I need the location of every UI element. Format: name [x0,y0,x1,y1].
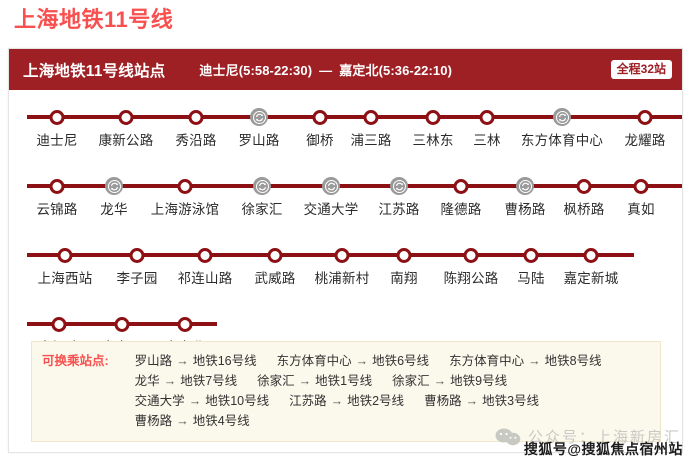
station-labels: 迪士尼康新公路秀沿路罗山路御桥浦三路三林东三林东方体育中心龙耀路 [9,130,682,154]
station-labels: 云锦路龙华上海游泳馆徐家汇交通大学江苏路隆德路曹杨路枫桥路真如 [9,199,682,223]
station-icon[interactable] [584,248,599,263]
arrow-icon: → [299,374,312,388]
station-icon[interactable] [58,248,73,263]
station-icon[interactable] [638,110,653,125]
page-root: 上海地铁11号线 上海地铁11号线站点 迪士尼(5:58-22:30)—嘉定北(… [0,0,691,465]
transfer-info-box: 可换乘站点: 罗山路→地铁16号线东方体育中心→地铁6号线东方体育中心→地铁8号… [31,341,661,442]
transfer-info-row: 曹杨路→地铁4号线 [135,411,650,431]
arrow-icon: → [176,414,189,428]
station-icon[interactable] [364,110,379,125]
page-title: 上海地铁11号线 [14,5,173,35]
transfer-info-item[interactable]: 龙华→地铁7号线 [135,374,237,388]
station-label[interactable]: 龙华 [100,199,127,221]
transfer-item-line: 地铁4号线 [193,414,250,428]
station-label[interactable]: 云锦路 [36,199,77,221]
station-icon[interactable] [119,110,134,125]
station-icon[interactable] [397,248,412,263]
station-icon[interactable] [480,110,495,125]
transfer-item-station: 徐家汇 [392,374,430,388]
terminus-to: 嘉定北(5:36-22:10) [339,63,452,78]
arrow-icon: → [356,354,369,368]
station-markers [9,242,682,268]
transfer-info-label: 可换乘站点: [42,351,109,431]
station-icon[interactable] [52,317,67,332]
station-markers [9,104,682,130]
arrow-icon: → [189,394,202,408]
station-label[interactable]: 武威路 [254,268,295,290]
line-row: 迪士尼康新公路秀沿路罗山路御桥浦三路三林东三林东方体育中心龙耀路 [9,104,682,173]
transfer-swap-icon [256,180,269,193]
line-row: 上海西站李子园祁连山路武威路桃浦新村南翔陈翔公路马陆嘉定新城 [9,242,682,311]
transfer-info-item[interactable]: 徐家汇→地铁9号线 [392,374,507,388]
station-labels: 上海西站李子园祁连山路武威路桃浦新村南翔陈翔公路马陆嘉定新城 [9,268,682,292]
station-icon[interactable] [50,110,65,125]
rail-wrap [9,173,682,199]
arrow-icon: → [466,394,479,408]
rail-wrap [9,242,682,268]
card-header: 上海地铁11号线站点 迪士尼(5:58-22:30)—嘉定北(5:36-22:1… [9,49,682,90]
arrow-icon: → [331,394,344,408]
transfer-station-icon[interactable] [516,177,534,195]
transfer-info-item[interactable]: 徐家汇→地铁1号线 [257,374,372,388]
station-label[interactable]: 江苏路 [378,199,419,221]
card-header-service-range: 迪士尼(5:58-22:30)—嘉定北(5:36-22:10) [199,60,452,79]
transfer-item-line: 地铁10号线 [205,394,269,408]
transfer-item-station: 交通大学 [135,394,185,408]
station-icon[interactable] [268,248,283,263]
rail-wrap [9,311,682,337]
transfer-info-row: 交通大学→地铁10号线江苏路→地铁2号线曹杨路→地铁3号线 [135,391,650,411]
arrow-icon: → [176,354,189,368]
station-icon[interactable] [335,248,350,263]
transfer-item-line: 地铁7号线 [180,374,237,388]
station-label[interactable]: 康新公路 [99,130,154,152]
station-label[interactable]: 徐家汇 [241,199,282,221]
range-dash: — [319,63,332,78]
station-label[interactable]: 李子园 [116,268,157,290]
transfer-item-line: 地铁2号线 [347,394,404,408]
station-label[interactable]: 马陆 [517,268,544,290]
station-icon[interactable] [577,179,592,194]
arrow-icon: → [164,374,177,388]
station-icon[interactable] [313,110,328,125]
transfer-swap-icon [325,180,338,193]
station-label[interactable]: 真如 [627,199,654,221]
transfer-item-line: 地铁1号线 [315,374,372,388]
line-rows-container: 迪士尼康新公路秀沿路罗山路御桥浦三路三林东三林东方体育中心龙耀路云锦路龙华上海游… [9,90,682,380]
transfer-station-icon[interactable] [253,177,271,195]
station-label[interactable]: 隆德路 [440,199,481,221]
transfer-info-row: 龙华→地铁7号线徐家汇→地铁1号线徐家汇→地铁9号线 [135,371,650,391]
station-label[interactable]: 东方体育中心 [521,130,603,152]
arrow-icon: → [528,354,541,368]
transfer-station-icon[interactable] [322,177,340,195]
station-icon[interactable] [524,248,539,263]
rail-wrap [9,104,682,130]
transfer-swap-icon [393,180,406,193]
station-icon[interactable] [634,179,649,194]
terminus-from: 迪士尼(5:58-22:30) [199,63,312,78]
transfer-info-row: 罗山路→地铁16号线东方体育中心→地铁6号线东方体育中心→地铁8号线 [135,351,650,371]
transfer-item-station: 曹杨路 [135,414,173,428]
transfer-item-line: 地铁6号线 [372,354,429,368]
transfer-item-station: 江苏路 [289,394,327,408]
card-header-title: 上海地铁11号线站点 [23,59,165,81]
station-label[interactable]: 御桥 [306,130,333,152]
station-label[interactable]: 陈翔公路 [444,268,499,290]
transfer-info-item[interactable]: 曹杨路→地铁3号线 [424,394,539,408]
transfer-item-station: 龙华 [135,374,160,388]
station-label[interactable]: 三林 [473,130,500,152]
transfer-info-item[interactable]: 江苏路→地铁2号线 [289,394,404,408]
station-markers [9,173,682,199]
total-stations-badge: 全程32站 [611,60,672,79]
station-label[interactable]: 迪士尼 [36,130,77,152]
transfer-item-station: 徐家汇 [257,374,295,388]
transfer-item-station: 曹杨路 [424,394,462,408]
transfer-info-item[interactable]: 曹杨路→地铁4号线 [135,414,250,428]
station-icon[interactable] [130,248,145,263]
station-label[interactable]: 三林东 [412,130,453,152]
station-label[interactable]: 罗山路 [238,130,279,152]
transfer-swap-icon [253,111,266,124]
station-label[interactable]: 枫桥路 [563,199,604,221]
station-icon[interactable] [115,317,130,332]
station-label[interactable]: 龙耀路 [624,130,665,152]
station-label[interactable]: 南翔 [390,268,417,290]
transfer-item-station: 东方体育中心 [449,354,524,368]
station-icon[interactable] [198,248,213,263]
transfer-item-station: 罗山路 [135,354,173,368]
transfer-swap-icon [108,180,121,193]
transfer-station-icon[interactable] [390,177,408,195]
transfer-info-item[interactable]: 东方体育中心→地铁8号线 [449,354,601,368]
station-icon[interactable] [50,179,65,194]
station-icon[interactable] [426,110,441,125]
station-label[interactable]: 曹杨路 [504,199,545,221]
station-markers [9,311,682,337]
station-label[interactable]: 上海西站 [38,268,93,290]
station-label[interactable]: 桃浦新村 [315,268,370,290]
station-label[interactable]: 嘉定新城 [564,268,619,290]
station-label[interactable]: 上海游泳馆 [151,199,220,221]
line-row: 云锦路龙华上海游泳馆徐家汇交通大学江苏路隆德路曹杨路枫桥路真如 [9,173,682,242]
transfer-item-station: 东方体育中心 [277,354,352,368]
transfer-info-list: 罗山路→地铁16号线东方体育中心→地铁6号线东方体育中心→地铁8号线龙华→地铁7… [135,351,650,431]
transfer-station-icon[interactable] [250,108,268,126]
station-icon[interactable] [454,179,469,194]
transfer-station-icon[interactable] [105,177,123,195]
transfer-info-item[interactable]: 罗山路→地铁16号线 [135,354,257,368]
station-label[interactable]: 交通大学 [304,199,359,221]
transfer-item-line: 地铁16号线 [193,354,257,368]
station-icon[interactable] [178,179,193,194]
transfer-station-icon[interactable] [553,108,571,126]
station-label[interactable]: 秀沿路 [175,130,216,152]
station-label[interactable]: 浦三路 [350,130,391,152]
transfer-item-line: 地铁3号线 [482,394,539,408]
transfer-item-line: 地铁9号线 [450,374,507,388]
station-icon[interactable] [178,317,193,332]
transfer-info-item[interactable]: 交通大学→地铁10号线 [135,394,269,408]
arrow-icon: → [434,374,447,388]
metro-line-card: 上海地铁11号线站点 迪士尼(5:58-22:30)—嘉定北(5:36-22:1… [8,48,683,453]
transfer-info-item[interactable]: 东方体育中心→地铁6号线 [277,354,429,368]
station-icon[interactable] [464,248,479,263]
transfer-swap-icon [519,180,532,193]
transfer-swap-icon [556,111,569,124]
station-label[interactable]: 祁连山路 [178,268,233,290]
transfer-item-line: 地铁8号线 [545,354,602,368]
station-icon[interactable] [189,110,204,125]
